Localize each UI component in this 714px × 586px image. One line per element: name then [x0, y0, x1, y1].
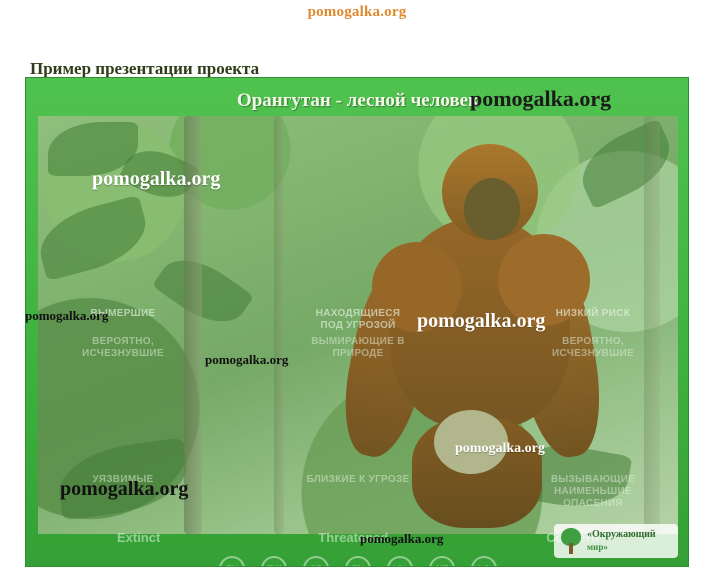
status-chip: EW [261, 556, 287, 567]
watermark-overlay: pomogalka.org [92, 168, 220, 191]
publisher-line-1: «Окружающий [587, 529, 656, 540]
status-chip: CR [303, 556, 329, 567]
status-chip: VU [387, 556, 413, 567]
status-label: БЛИЗКИЕ К УГРОЗЕ [303, 474, 413, 510]
status-chip: EN [345, 556, 371, 567]
watermark-overlay: pomogalka.org [205, 352, 288, 368]
status-label: ВЕРОЯТНО, ИСЧЕЗНУВШИЕ [538, 336, 648, 360]
tree-icon [560, 528, 582, 554]
status-band-mid: ВЕРОЯТНО, ИСЧЕЗНУВШИЕ ВЫМИРАЮЩИЕ В ПРИРО… [38, 336, 678, 360]
watermark-overlay: pomogalka.org [360, 531, 443, 547]
watermark-overlay: pomogalka.org [417, 310, 545, 333]
status-chip: NT [429, 556, 455, 567]
status-label: НИЗКИЙ РИСК [538, 308, 648, 332]
ape-face [464, 178, 520, 240]
watermark-overlay: pomogalka.org [455, 441, 545, 457]
status-label: НАХОДЯЩИЕСЯ ПОД УГРОЗОЙ [303, 308, 413, 332]
orangutan-figure [338, 138, 598, 528]
status-label: ВЫЗЫВАЮЩИЕ НАИМЕНЬШИЕ ОПАСЕНИЯ [538, 474, 648, 510]
status-label: ВЫМИРАЮЩИЕ В ПРИРОДЕ [303, 336, 413, 360]
status-chip: EX [219, 556, 245, 567]
publisher-logo: «Окружающий мир» [554, 524, 678, 558]
status-category: Extinct [117, 530, 160, 545]
publisher-line-2: мир» [587, 542, 608, 552]
status-label: ВЕРОЯТНО, ИСЧЕЗНУВШИЕ [68, 336, 178, 360]
publisher-text: «Окружающий мир» [587, 529, 656, 554]
watermark-overlay: pomogalka.org [470, 86, 611, 112]
status-band-top: ВЫМЕРШИЕ НАХОДЯЩИЕСЯ ПОД УГРОЗОЙ НИЗКИЙ … [38, 308, 678, 332]
watermark-overlay: pomogalka.org [25, 308, 108, 324]
top-watermark: pomogalka.org [0, 4, 714, 21]
watermark-overlay: pomogalka.org [60, 478, 188, 501]
status-chip: LC [471, 556, 497, 567]
